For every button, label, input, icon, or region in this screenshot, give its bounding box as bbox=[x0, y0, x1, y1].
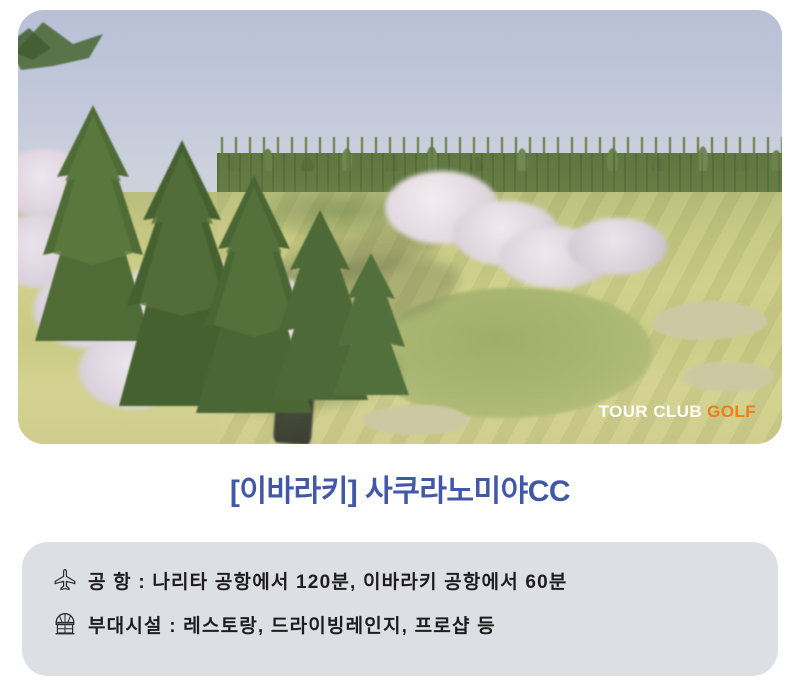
airplane-icon bbox=[50, 565, 80, 595]
course-info-box: 공 항 : 나리타 공항에서 120분, 이바라키 공항에서 60분 부대시설 … bbox=[22, 542, 778, 676]
watermark-accent-text: GOLF bbox=[707, 402, 756, 421]
course-title: [이바라키] 사쿠라노미야CC bbox=[0, 466, 800, 510]
sand-bunker bbox=[683, 362, 775, 392]
conifer-tree bbox=[331, 253, 411, 408]
info-row-facilities: 부대시설 : 레스토랑, 드라이빙레인지, 프로샵 등 bbox=[50, 604, 778, 644]
info-row-facilities-text: 부대시설 : 레스토랑, 드라이빙레인지, 프로샵 등 bbox=[88, 611, 496, 638]
cherry-blossom-tree bbox=[568, 218, 667, 274]
info-row-airport: 공 항 : 나리타 공항에서 120분, 이바라키 공항에서 60분 bbox=[50, 560, 778, 600]
conifer-tree bbox=[18, 14, 113, 89]
watermark-primary-text: TOUR CLUB bbox=[599, 402, 702, 421]
course-photo: TOUR CLUB GOLF bbox=[18, 10, 782, 444]
tour-club-golf-watermark: TOUR CLUB GOLF bbox=[599, 402, 756, 422]
clubhouse-icon bbox=[50, 609, 80, 639]
info-row-airport-text: 공 항 : 나리타 공항에서 120분, 이바라키 공항에서 60분 bbox=[88, 567, 568, 594]
sand-bunker bbox=[362, 405, 469, 435]
golf-course-card: TOUR CLUB GOLF [이바라키] 사쿠라노미야CC 공 항 : 나리타… bbox=[0, 0, 800, 700]
course-photo-canvas: TOUR CLUB GOLF bbox=[18, 10, 782, 444]
